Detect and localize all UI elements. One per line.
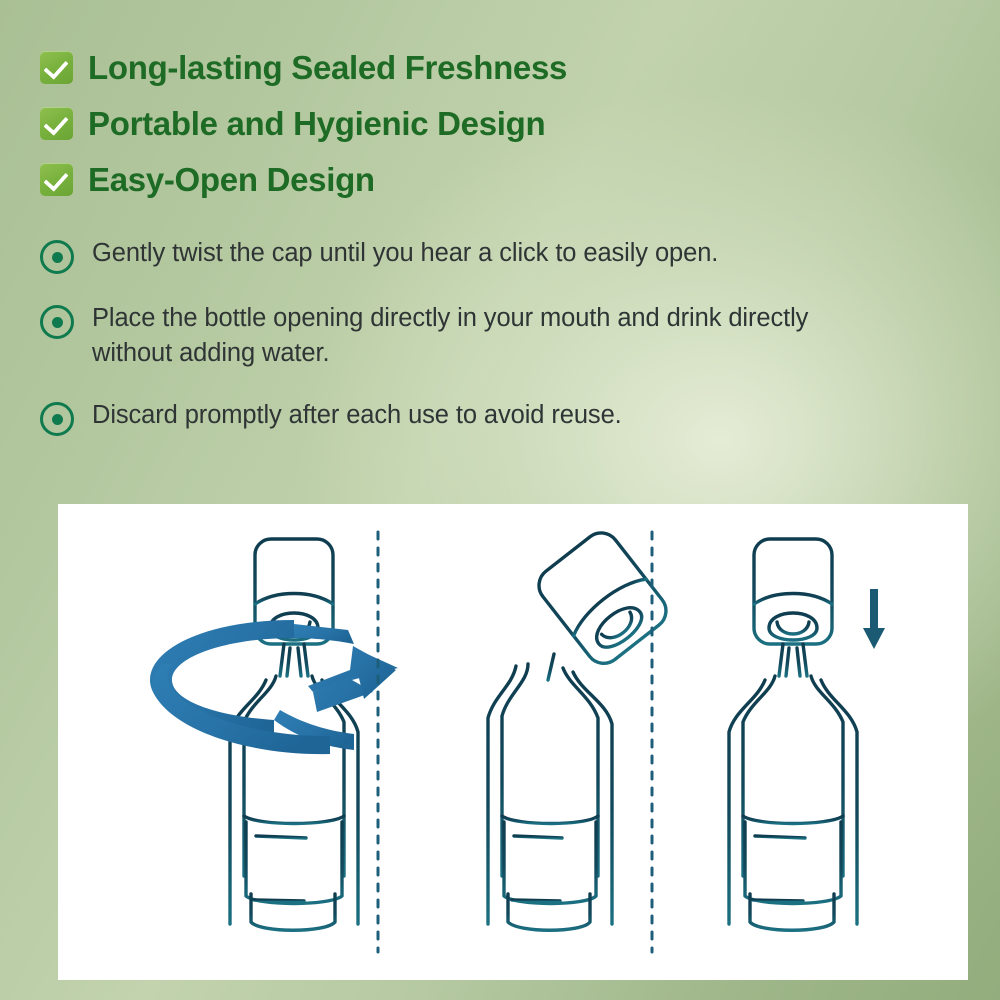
instruction-item: Discard promptly after each use to avoid… (40, 398, 830, 436)
instruction-item: Place the bottle opening directly in you… (40, 301, 830, 371)
feature-item: Long-lasting Sealed Freshness (40, 44, 567, 91)
illustration-panel (58, 504, 968, 980)
feature-list: Long-lasting Sealed Freshness Portable a… (40, 44, 567, 212)
replace-cap-step (729, 539, 857, 930)
radio-bullet-icon (40, 240, 74, 274)
check-icon (40, 107, 73, 140)
instruction-list: Gently twist the cap until you hear a cl… (40, 236, 830, 463)
feature-item: Portable and Hygienic Design (40, 100, 567, 147)
feature-label: Long-lasting Sealed Freshness (88, 50, 567, 86)
radio-bullet-icon (40, 402, 74, 436)
feature-label: Portable and Hygienic Design (88, 106, 545, 142)
instruction-text: Gently twist the cap until you hear a cl… (92, 236, 718, 271)
instruction-text: Discard promptly after each use to avoid… (92, 398, 622, 433)
feature-label: Easy-Open Design (88, 162, 375, 198)
check-icon (40, 51, 73, 84)
radio-bullet-icon (40, 305, 74, 339)
down-arrow-icon (863, 589, 885, 649)
promo-graphic-root: Long-lasting Sealed Freshness Portable a… (0, 0, 1000, 1000)
instruction-item: Gently twist the cap until you hear a cl… (40, 236, 830, 274)
remove-cap-step (488, 526, 673, 931)
rotation-arrow-icon (150, 620, 398, 754)
feature-item: Easy-Open Design (40, 156, 567, 203)
check-icon (40, 163, 73, 196)
illustration-svg (58, 504, 968, 980)
instruction-text: Place the bottle opening directly in you… (92, 301, 830, 371)
